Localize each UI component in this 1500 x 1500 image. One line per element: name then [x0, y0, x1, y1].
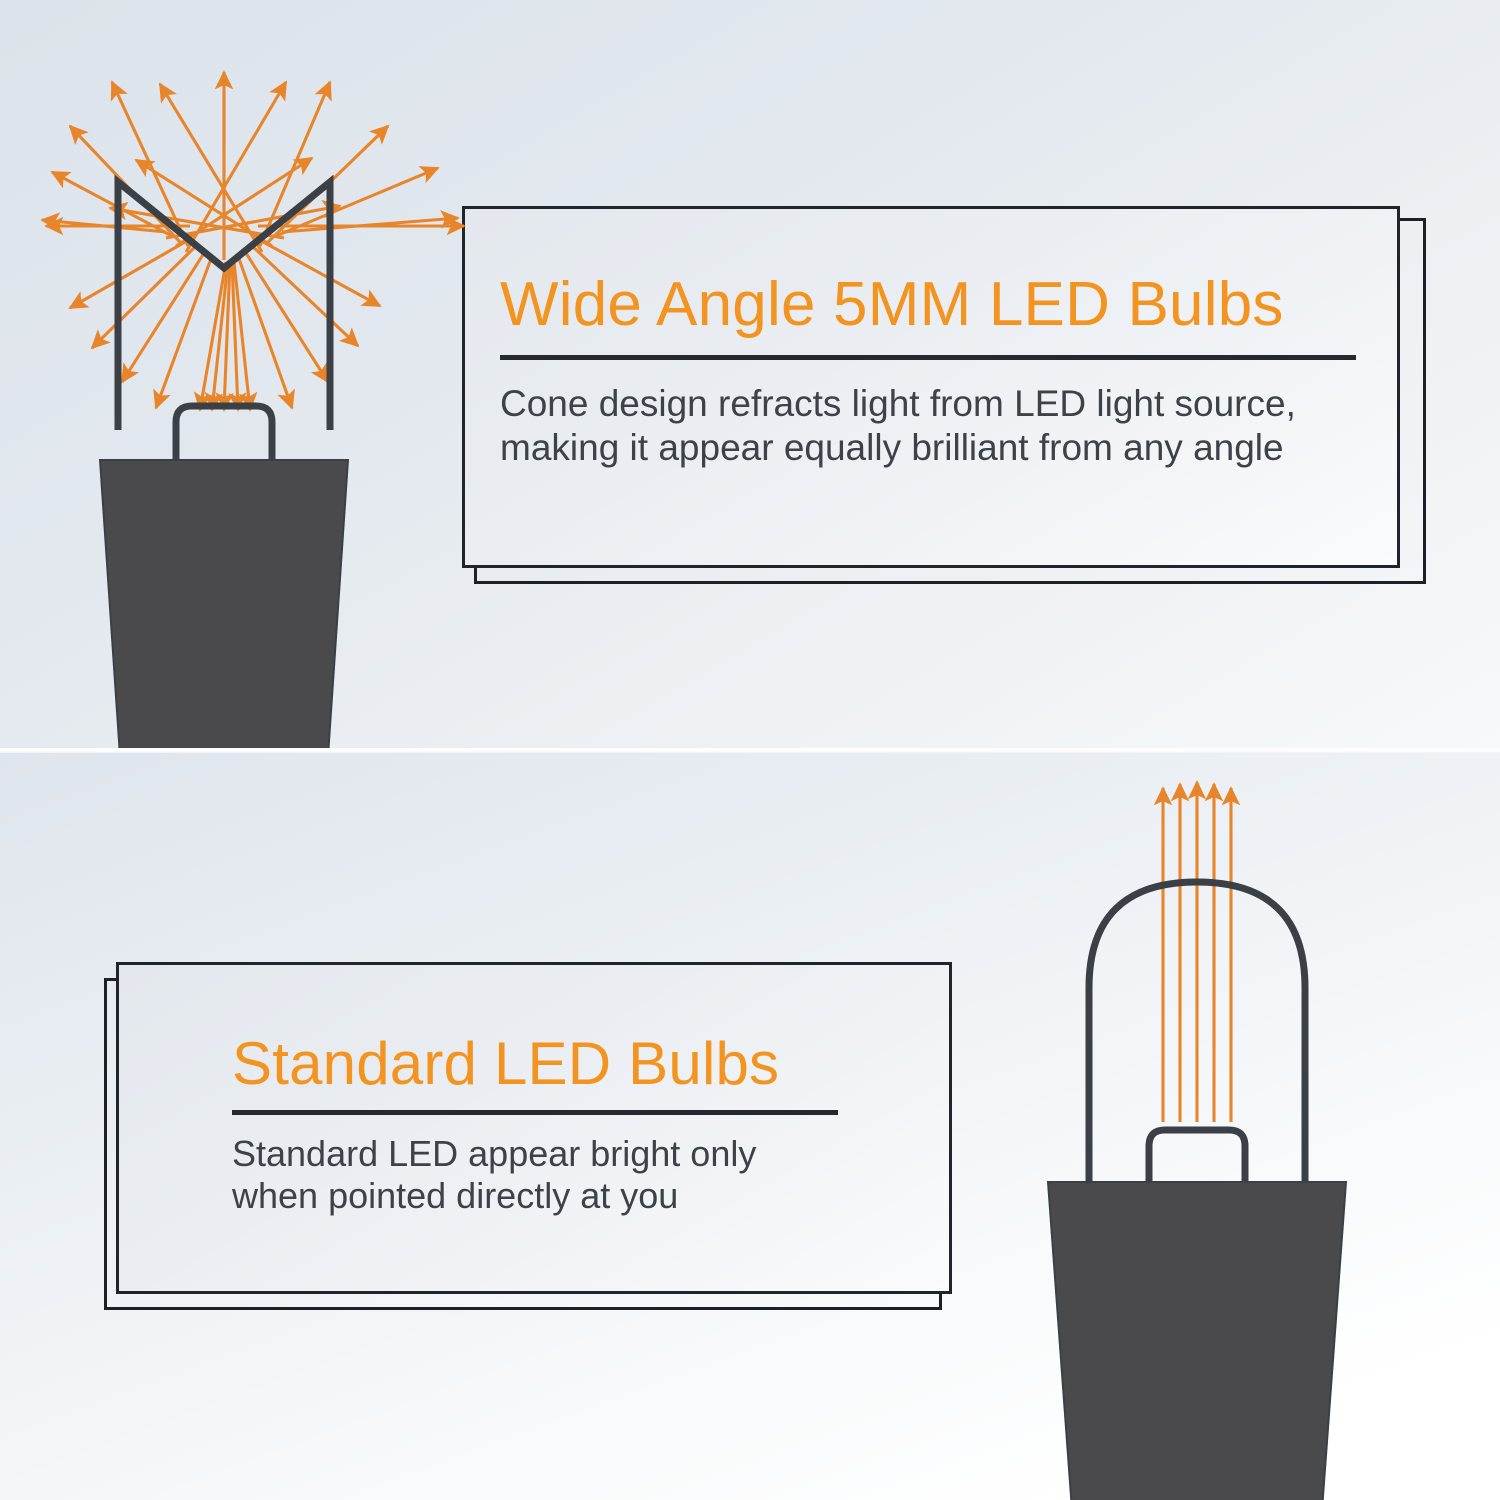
panel-standard: Standard LED Bulbs Standard LED appear b… — [0, 752, 1500, 1500]
wide-angle-led-bulb-illustration — [40, 30, 470, 752]
led-chip-bracket — [176, 406, 272, 460]
standard-title-rule — [232, 1110, 838, 1115]
bulb-base — [1048, 1182, 1346, 1500]
wide-angle-description: Cone design refracts light from LED ligh… — [500, 382, 1370, 469]
wide-angle-title: Wide Angle 5MM LED Bulbs — [500, 274, 1370, 336]
standard-led-bulb-illustration — [1000, 770, 1400, 1500]
wide-angle-card-content: Wide Angle 5MM LED Bulbs Cone design ref… — [500, 274, 1370, 469]
infographic-canvas: Wide Angle 5MM LED Bulbs Cone design ref… — [0, 0, 1500, 1500]
bulb-base — [100, 460, 348, 752]
standard-title: Standard LED Bulbs — [232, 1034, 932, 1094]
panel-divider — [0, 748, 1500, 753]
standard-card-content: Standard LED Bulbs Standard LED appear b… — [232, 1034, 932, 1218]
standard-description: Standard LED appear bright only when poi… — [232, 1133, 932, 1218]
wide-angle-title-rule — [500, 355, 1356, 360]
panel-wide-angle: Wide Angle 5MM LED Bulbs Cone design ref… — [0, 0, 1500, 752]
led-chip-bracket — [1149, 1130, 1245, 1182]
light-ray-group — [1163, 782, 1231, 1122]
